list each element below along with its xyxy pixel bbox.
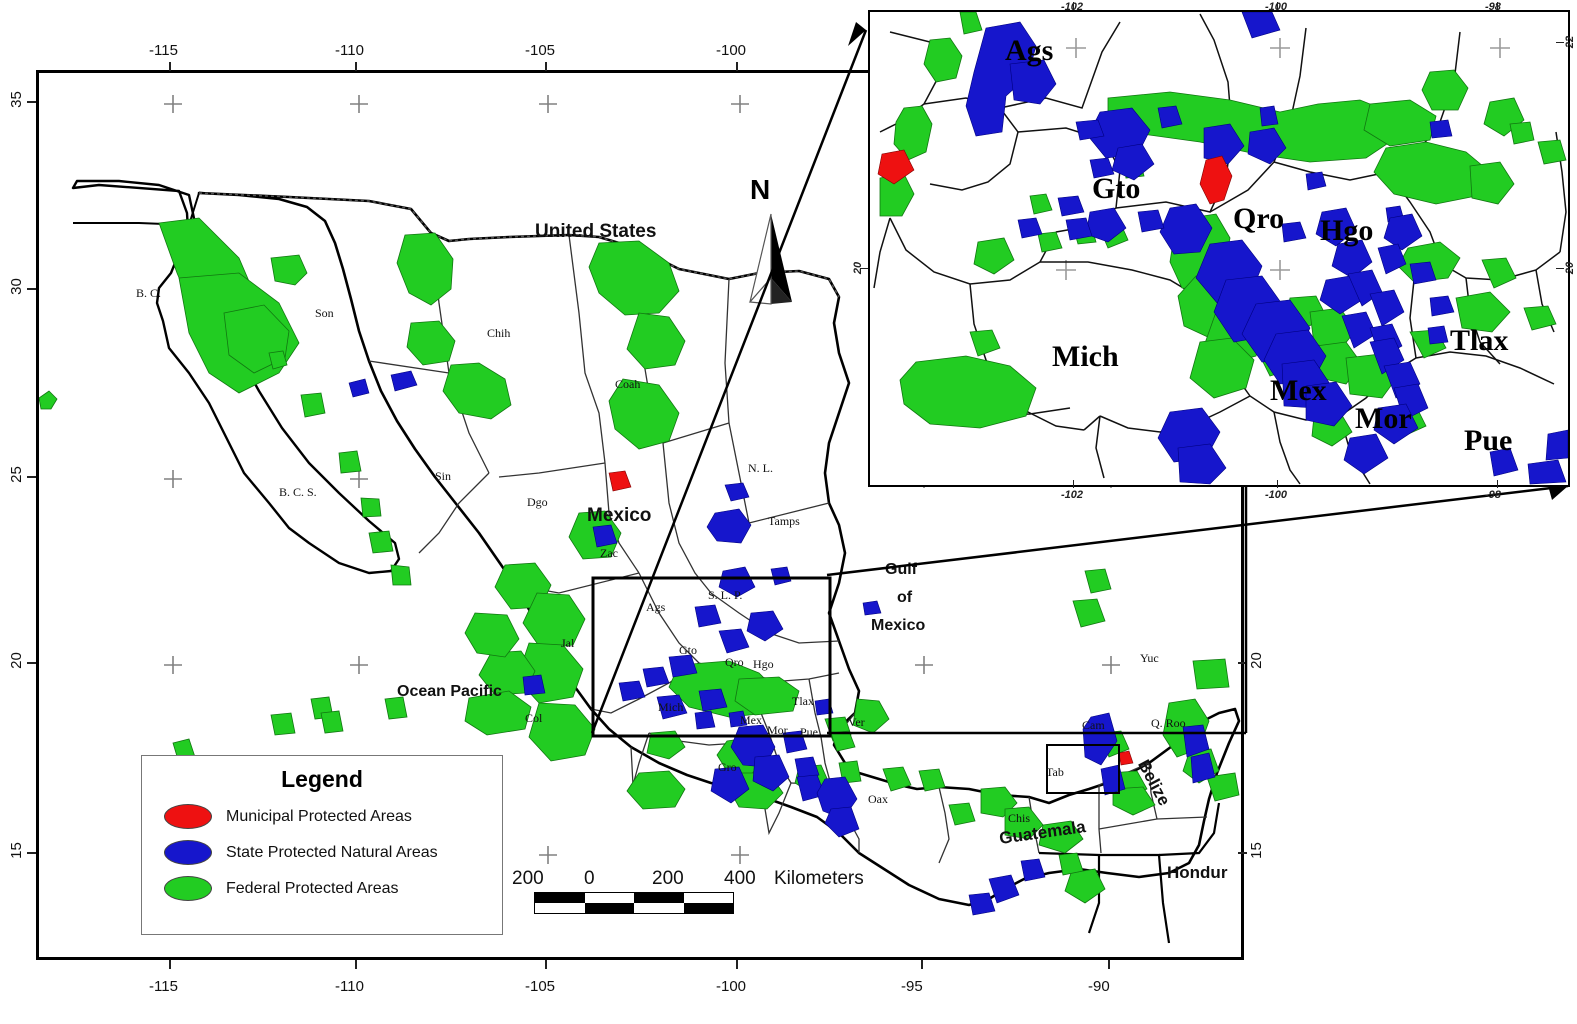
legend-title: Legend [142, 766, 502, 793]
axis-bottom-tickmark-4 [921, 960, 923, 969]
legend-item-0[interactable]: Municipal Protected Areas [164, 804, 502, 829]
scale-units: Kilometers [774, 868, 864, 890]
inset-state-label-mex: Mex [1270, 374, 1327, 408]
state-label-ags: Ags [646, 600, 665, 615]
axis-bottom-tickmark-0 [169, 960, 171, 969]
axis-top-tickmark-2 [545, 62, 547, 71]
axis-top-tickmark-3 [736, 62, 738, 71]
label-mexico: Mexico [587, 505, 651, 527]
scale-tick-1: 0 [584, 868, 595, 890]
inset-state-label-qro: Qro [1233, 202, 1284, 236]
inset-axis-bottom-tick-0: -102 [1061, 489, 1083, 501]
label-gulf-line2: of [897, 589, 912, 607]
inset-state-label-gto: Gto [1092, 172, 1140, 206]
label-united-states: United States [535, 221, 656, 243]
inset-axis-top-tickmark-0 [1073, 2, 1074, 10]
legend-item-label-1: State Protected Natural Areas [226, 844, 438, 862]
scale-bar: 2000200400Kilometers [512, 868, 868, 914]
state-label-jal: Jal [561, 636, 574, 651]
state-label-mich: Mich [658, 700, 683, 715]
state-label-pue: Pue [800, 725, 818, 740]
north-arrow-glyph [740, 212, 802, 338]
axis-left-tickmark-2 [27, 476, 36, 478]
state-label-bcs: B. C. S. [279, 485, 317, 500]
state-label-oax: Oax [868, 792, 888, 807]
label-gulf-line1: Gulf [885, 561, 917, 579]
axis-top-tickmark-1 [355, 62, 357, 71]
axis-bottom-tickmark-1 [355, 960, 357, 969]
axis-bottom-tickmark-3 [736, 960, 738, 969]
axis-top-tick-2: -105 [525, 42, 555, 59]
axis-left-tick-3: 20 [8, 652, 25, 669]
state-label-cam: Cam [1082, 718, 1105, 733]
state-label-zac: Zac [600, 546, 618, 561]
legend-rows: Municipal Protected AreasState Protected… [142, 804, 502, 901]
scale-tick-2: 200 [652, 868, 684, 890]
axis-top-tick-1: -110 [335, 42, 364, 59]
inset-state-label-hgo: Hgo [1320, 214, 1373, 248]
axis-right-tickmark-0 [1238, 662, 1247, 664]
north-arrow-label: N [750, 174, 770, 206]
state-label-hgo: Hgo [753, 657, 774, 672]
axis-bottom-tickmark-5 [1108, 960, 1110, 969]
axis-bottom-tick-3: -100 [716, 978, 746, 995]
scale-bar-labels: 2000200400Kilometers [512, 868, 868, 892]
scale-tick-0: 200 [512, 868, 544, 890]
state-label-sin: Sin [435, 469, 451, 484]
axis-bottom-tick-4: -95 [901, 978, 923, 995]
legend-swatch-icon-0 [164, 804, 212, 829]
inset-axis-bottom-tickmark-2 [1497, 480, 1498, 488]
axis-top-tick-0: -115 [149, 42, 178, 59]
axis-right-tick-0: 20 [1248, 652, 1265, 669]
axis-left-tick-1: 30 [8, 278, 25, 295]
legend-item-2[interactable]: Federal Protected Areas [164, 876, 502, 901]
label-honduras: Hondur [1167, 863, 1227, 883]
legend-panel: Legend Municipal Protected AreasState Pr… [141, 755, 503, 935]
axis-left-tickmark-1 [27, 288, 36, 290]
inset-axis-bottom-tick-2: -98 [1485, 489, 1501, 501]
inset-axis-right-tick-0: 22 [1564, 36, 1576, 48]
inset-state-label-pue: Pue [1464, 424, 1512, 458]
axis-left-tick-0: 35 [8, 91, 25, 108]
axis-right-tickmark-1 [1238, 852, 1247, 854]
axis-left-tickmark-3 [27, 662, 36, 664]
state-label-tamps: Tamps [768, 514, 800, 529]
inset-map: AgsGtoQroHgoMichMexTlaxMorPue [868, 10, 1570, 487]
inset-axis-bottom-tickmark-0 [1073, 480, 1074, 488]
state-label-bc: B. C. [136, 286, 161, 301]
inset-axis-right-tick-1: 20 [1564, 262, 1576, 274]
state-label-col: Col [525, 711, 542, 726]
axis-bottom-tickmark-2 [545, 960, 547, 969]
state-label-nl: N. L. [748, 461, 773, 476]
axis-bottom-tick-5: -90 [1088, 978, 1110, 995]
state-label-son: Son [315, 306, 334, 321]
legend-item-label-0: Municipal Protected Areas [226, 808, 412, 826]
axis-top-tickmark-0 [169, 62, 171, 71]
inset-state-label-ags: Ags [1005, 34, 1053, 68]
inset-axis-bottom-tickmark-1 [1277, 480, 1278, 488]
state-label-tlax: Tlax [792, 694, 814, 709]
label-ocean-pacific: Ocean Pacific [397, 683, 502, 701]
state-label-gto: Gto [679, 643, 697, 658]
legend-swatch-icon-2 [164, 876, 212, 901]
label-gulf-mexico: Mexico [871, 617, 925, 635]
axis-top-tick-3: -100 [716, 42, 746, 59]
inset-axis-top-tick-2: -98 [1485, 1, 1501, 13]
inset-axis-right-tickmark-1 [1556, 268, 1564, 269]
inset-axis-top-tickmark-2 [1497, 2, 1498, 10]
state-label-yuc: Yuc [1140, 651, 1159, 666]
inset-axis-bottom-tick-1: -100 [1265, 489, 1287, 501]
state-label-qro: Qro [725, 655, 744, 670]
axis-right-tick-1: 15 [1248, 842, 1265, 859]
scale-bar-graphic [534, 892, 734, 914]
state-label-tab: Tab [1046, 765, 1064, 780]
north-arrow: N [740, 178, 802, 304]
inset-municipal-areas [878, 150, 1232, 204]
legend-item-1[interactable]: State Protected Natural Areas [164, 840, 502, 865]
state-label-coah: Coah [615, 377, 640, 392]
inset-axis-left-tickmark-0 [860, 268, 868, 269]
state-label-mor: Mor [767, 723, 788, 738]
inset-map-canvas [870, 12, 1568, 485]
inset-state-label-mich: Mich [1052, 340, 1119, 374]
axis-bottom-tick-2: -105 [525, 978, 555, 995]
axis-bottom-tick-0: -115 [149, 978, 178, 995]
state-label-chih: Chih [487, 326, 510, 341]
state-label-ver: Ver [848, 715, 865, 730]
inset-axis-right-tickmark-0 [1556, 42, 1564, 43]
state-label-chis: Chis [1008, 811, 1030, 826]
state-label-gro: Gro [718, 760, 737, 775]
state-label-mex: Mex [740, 713, 762, 728]
legend-item-label-2: Federal Protected Areas [226, 880, 399, 898]
legend-swatch-icon-1 [164, 840, 212, 865]
axis-bottom-tick-1: -110 [335, 978, 364, 995]
axis-left-tick-4: 15 [8, 842, 25, 859]
inset-state-label-mor: Mor [1355, 402, 1412, 436]
axis-left-tickmark-4 [27, 852, 36, 854]
map-figure: B. C.SonChihB. C. S.SinDgoCoahN. L.Tamps… [0, 0, 1577, 1024]
state-label-dgo: Dgo [527, 495, 548, 510]
axis-left-tickmark-0 [27, 101, 36, 103]
state-label-qroo: Q. Roo [1151, 716, 1186, 731]
inset-axis-top-tickmark-1 [1277, 2, 1278, 10]
axis-left-tick-2: 25 [8, 466, 25, 483]
state-label-slp: S. L. P. [708, 588, 742, 603]
inset-state-label-tlax: Tlax [1450, 324, 1508, 358]
scale-tick-3: 400 [724, 868, 756, 890]
